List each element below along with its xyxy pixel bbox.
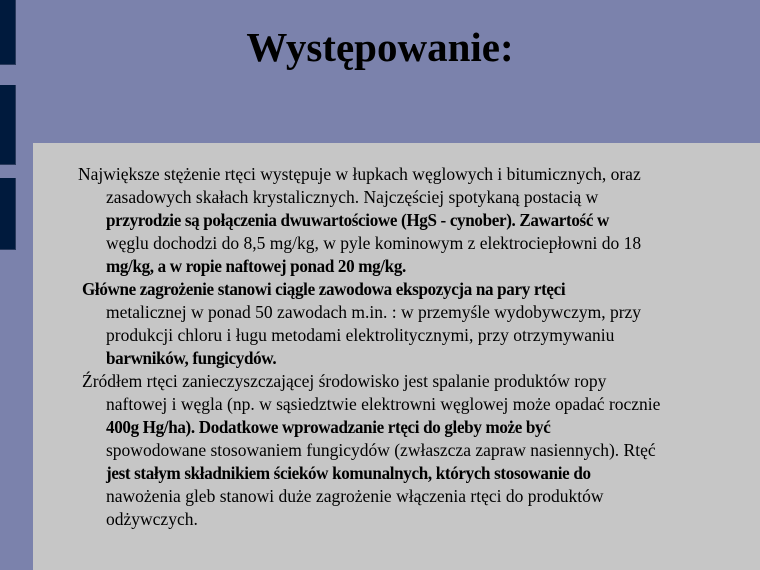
text-line: Główne zagrożenie stanowi ciągle zawodow… <box>82 278 733 301</box>
text-line: produkcji chloru i ługu metodami elektro… <box>106 324 750 347</box>
text-line: jest stałym składnikiem ścieków komunaln… <box>106 462 734 485</box>
text-line: 400g Hg/ha). Dodatkowe wprowadzanie rtęc… <box>106 416 734 439</box>
text-line: przyrodzie są połączenia dwuwartościowe … <box>106 209 734 232</box>
content-panel: Największe stężenie rtęci występuje w łu… <box>33 143 760 570</box>
text-line: metalicznej w ponad 50 zawodach m.in. : … <box>106 301 750 324</box>
text-line: nawożenia gleb stanowi duże zagrożenie w… <box>106 485 750 508</box>
text-line: odżywczych. <box>106 508 750 531</box>
text-line: naftowej i węgla (np. w sąsiedztwie elek… <box>106 393 750 416</box>
slide: Występowanie: Największe stężenie rtęci … <box>0 0 760 570</box>
decorative-edge-bar-2 <box>0 85 16 165</box>
text-run: przyrodzie są połączenia dwuwartościowe … <box>106 210 406 230</box>
text-line: Największe stężenie rtęci występuje w łu… <box>78 163 750 186</box>
text-line: Źródłem rtęci zanieczyszczającej środowi… <box>82 370 750 393</box>
text-line: barwników, fungicydów. <box>106 347 734 370</box>
text-line: węglu dochodzi do 8,5 mg/kg, w pyle komi… <box>106 232 750 255</box>
body-text: Największe stężenie rtęci występuje w łu… <box>78 163 750 531</box>
text-run: ). Zawartość w <box>506 210 609 230</box>
text-line: spowodowane stosowaniem fungicydów (zwła… <box>106 439 750 462</box>
text-line: zasadowych skałach krystalicznych. Najcz… <box>106 186 750 209</box>
page-title: Występowanie: <box>0 22 760 72</box>
text-run-bold: HgS - cynober <box>406 210 506 230</box>
text-line: mg/kg, a w ropie naftowej ponad 20 mg/kg… <box>106 255 734 278</box>
decorative-edge-bar-3 <box>0 178 16 250</box>
